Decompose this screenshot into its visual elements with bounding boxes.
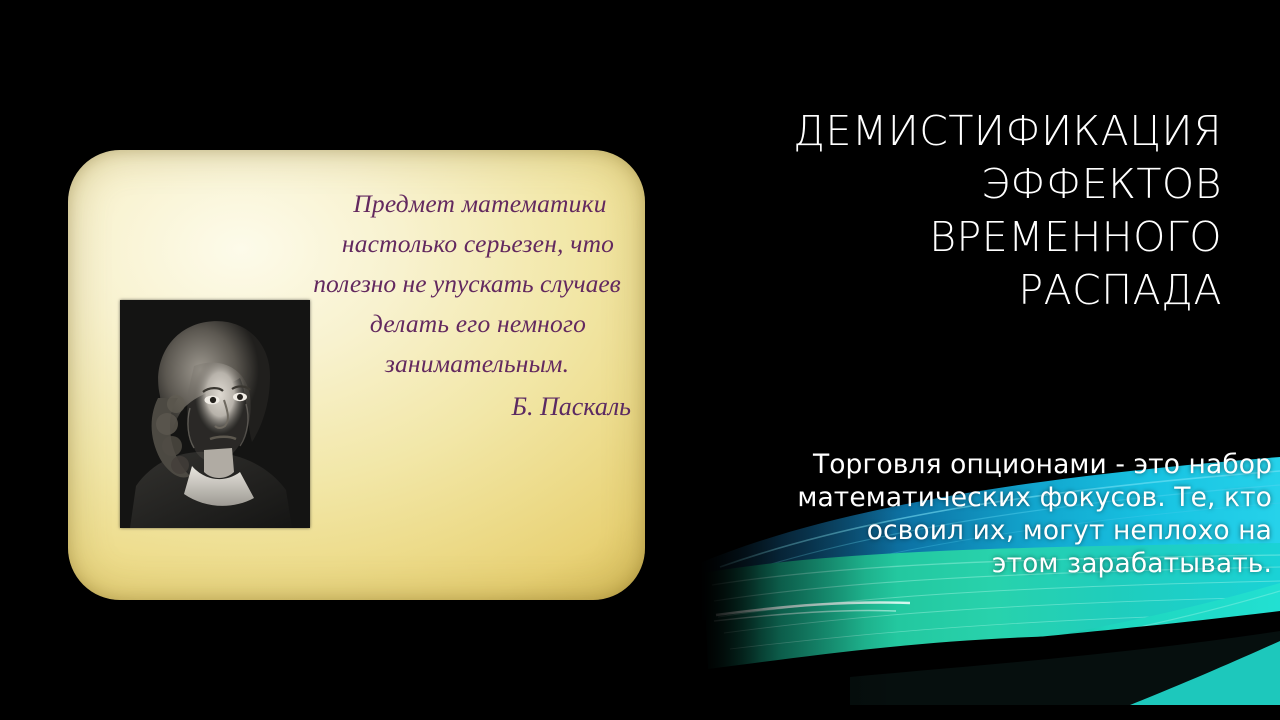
- page-title: ДЕМИСТИФИКАЦИЯ ЭФФЕКТОВ ВРЕМЕННОГО РАСПА…: [662, 105, 1222, 317]
- subtitle-line: освоил их, могут неплохо на: [652, 514, 1272, 547]
- subtitle-text: Торговля опционами - это набор математич…: [652, 448, 1272, 580]
- subtitle-line: математических фокусов. Те, кто: [652, 481, 1272, 514]
- pascal-portrait-image: [120, 300, 310, 528]
- slide: Предмет математики настолько серьезен, ч…: [0, 0, 1280, 720]
- quote-card: Предмет математики настолько серьезен, ч…: [68, 150, 645, 600]
- quote-line: делать его немного: [318, 304, 638, 344]
- subtitle-line: Торговля опционами - это набор: [652, 448, 1272, 481]
- title-line: РАСПАДА: [662, 264, 1222, 317]
- title-line: ЭФФЕКТОВ: [662, 158, 1222, 211]
- quote-line: Предмет математики: [322, 184, 638, 224]
- quote-line: настолько серьезен, что: [318, 224, 638, 264]
- subtitle-line: этом зарабатывать.: [652, 547, 1272, 580]
- title-line: ВРЕМЕННОГО: [662, 211, 1222, 264]
- quote-line: полезно не упускать случаев: [296, 264, 638, 304]
- quote-line: занимательным.: [316, 344, 638, 384]
- title-line: ДЕМИСТИФИКАЦИЯ: [662, 105, 1222, 158]
- quote-text: Предмет математики настолько серьезен, ч…: [318, 184, 638, 384]
- quote-author: Б. Паскаль: [512, 392, 631, 422]
